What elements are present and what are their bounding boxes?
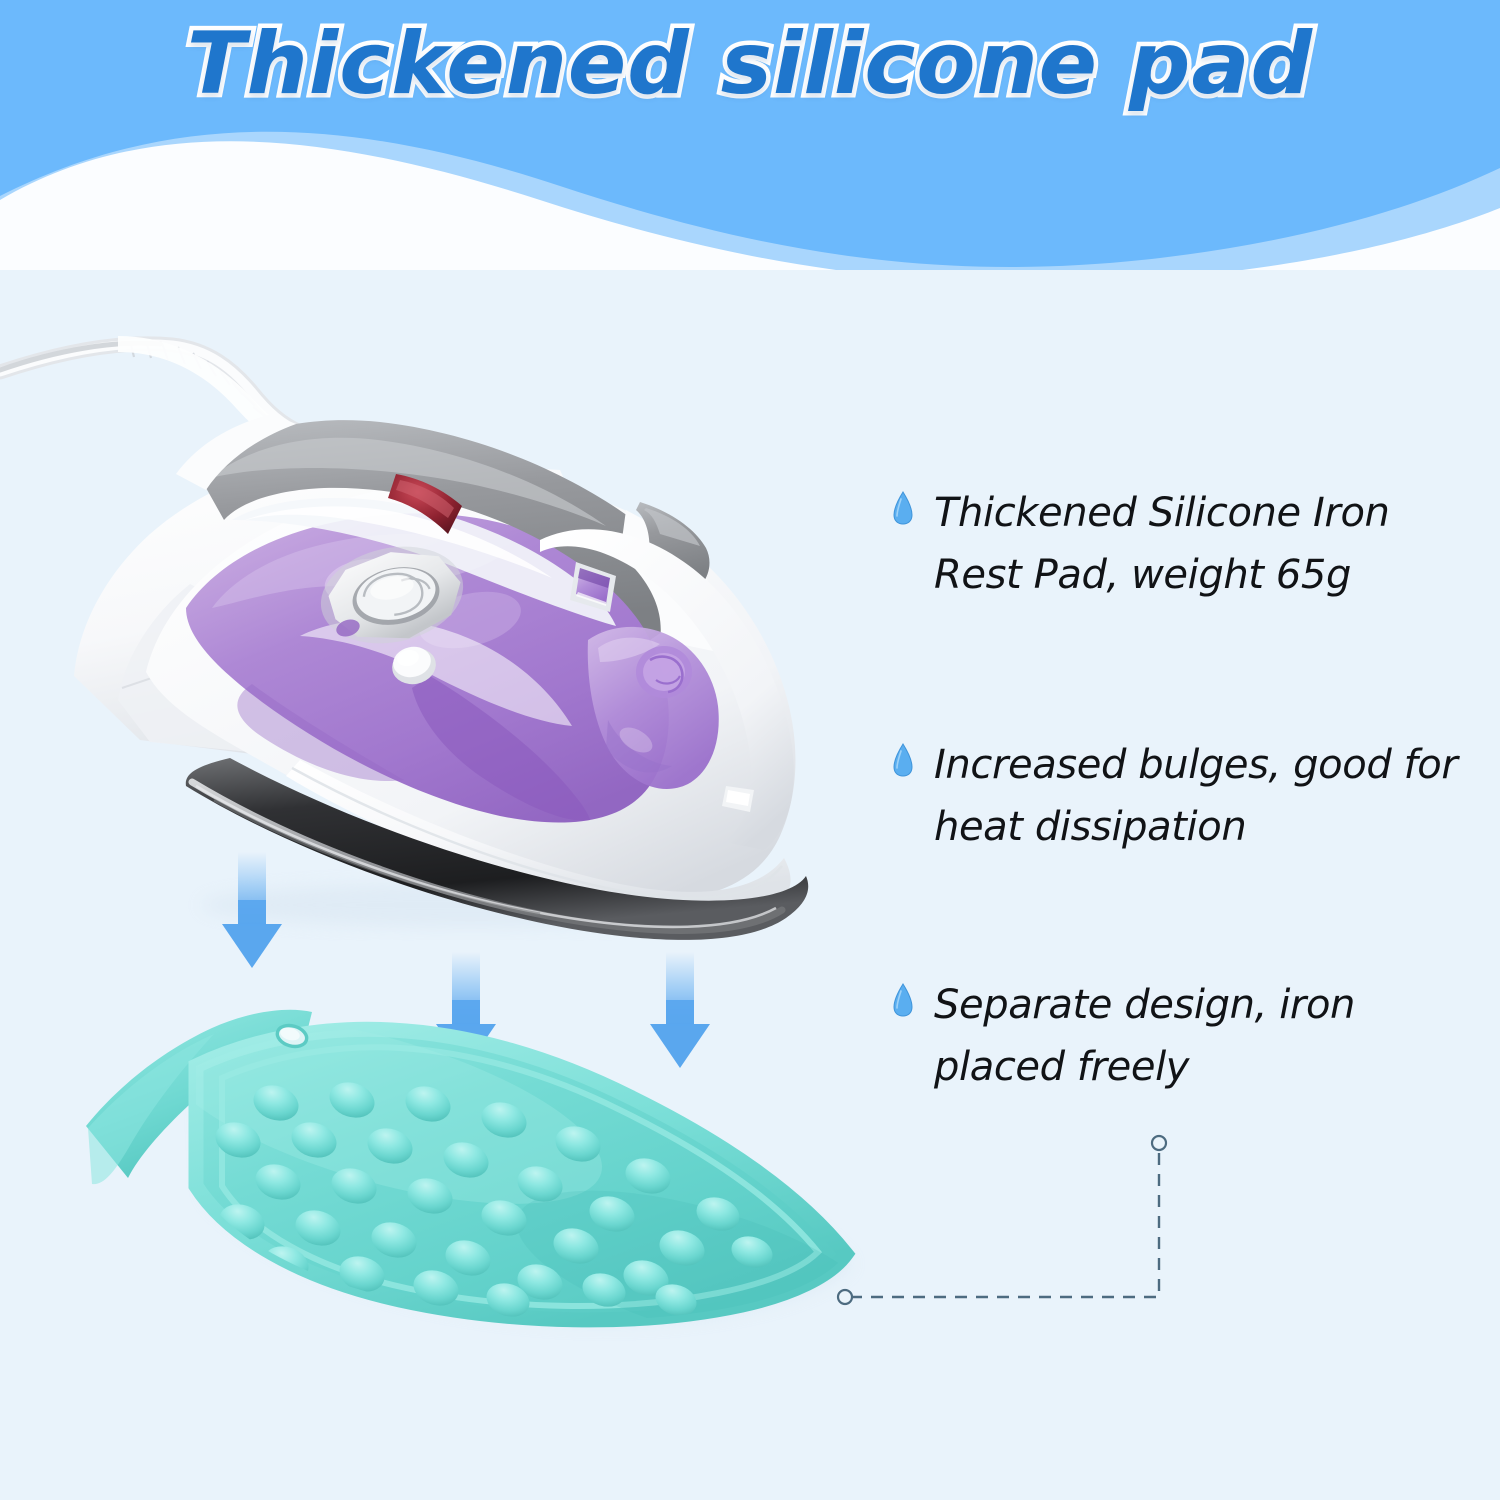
page-title: Thickened silicone pad (0, 14, 1500, 114)
steam-iron (0, 336, 808, 940)
dimension-callout (838, 1136, 1166, 1304)
callout-endpoint-top (1152, 1136, 1166, 1150)
callout-endpoint-left (838, 1290, 852, 1304)
iron-drop-icon (892, 983, 914, 1017)
iron-drop-icon (892, 491, 914, 525)
callout-dashed-line (850, 1148, 1159, 1297)
iron-drop-icon (892, 743, 914, 777)
list-item-label: Increased bulges, good for heat dissipat… (934, 734, 1480, 858)
downward-arrow (650, 952, 710, 1068)
list-item: Thickened Silicone Iron Rest Pad, weight… (892, 482, 1482, 606)
list-item-label: Thickened Silicone Iron Rest Pad, weight… (934, 482, 1480, 606)
list-item: Increased bulges, good for heat dissipat… (892, 734, 1482, 858)
silicone-iron-rest-pad (86, 977, 900, 1382)
list-item: Separate design, iron placed freely (892, 974, 1482, 1098)
list-item-label: Separate design, iron placed freely (934, 974, 1480, 1098)
